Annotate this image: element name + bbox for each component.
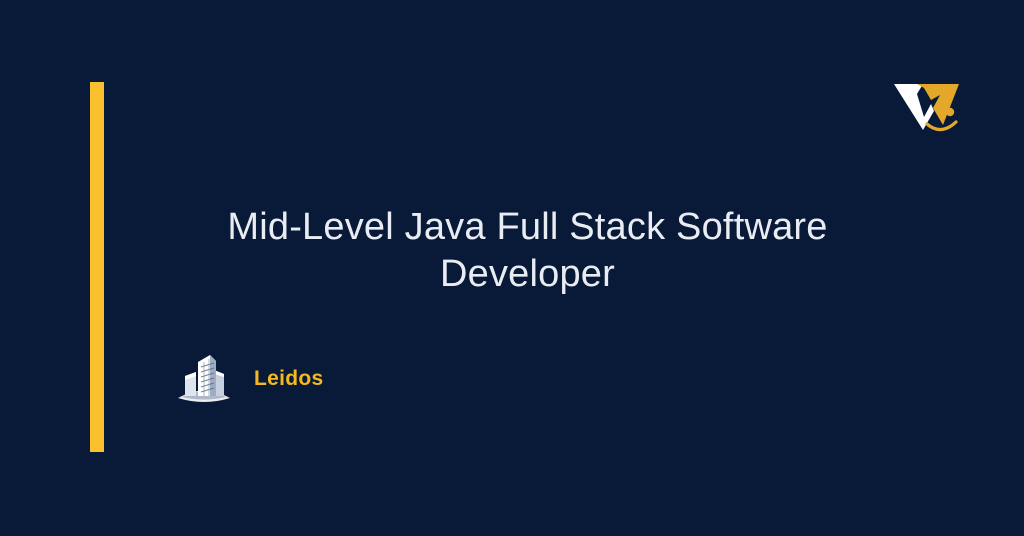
skyscraper-building-icon (176, 350, 232, 406)
company-row: Leidos (176, 350, 323, 406)
accent-bar (90, 82, 104, 452)
w-monogram-logo (893, 80, 969, 134)
job-title-container: Mid-Level Java Full Stack Software Devel… (185, 204, 870, 298)
company-name: Leidos (254, 368, 323, 389)
page-title: Mid-Level Java Full Stack Software Devel… (185, 204, 870, 298)
job-posting-card: Mid-Level Java Full Stack Software Devel… (0, 0, 1024, 536)
